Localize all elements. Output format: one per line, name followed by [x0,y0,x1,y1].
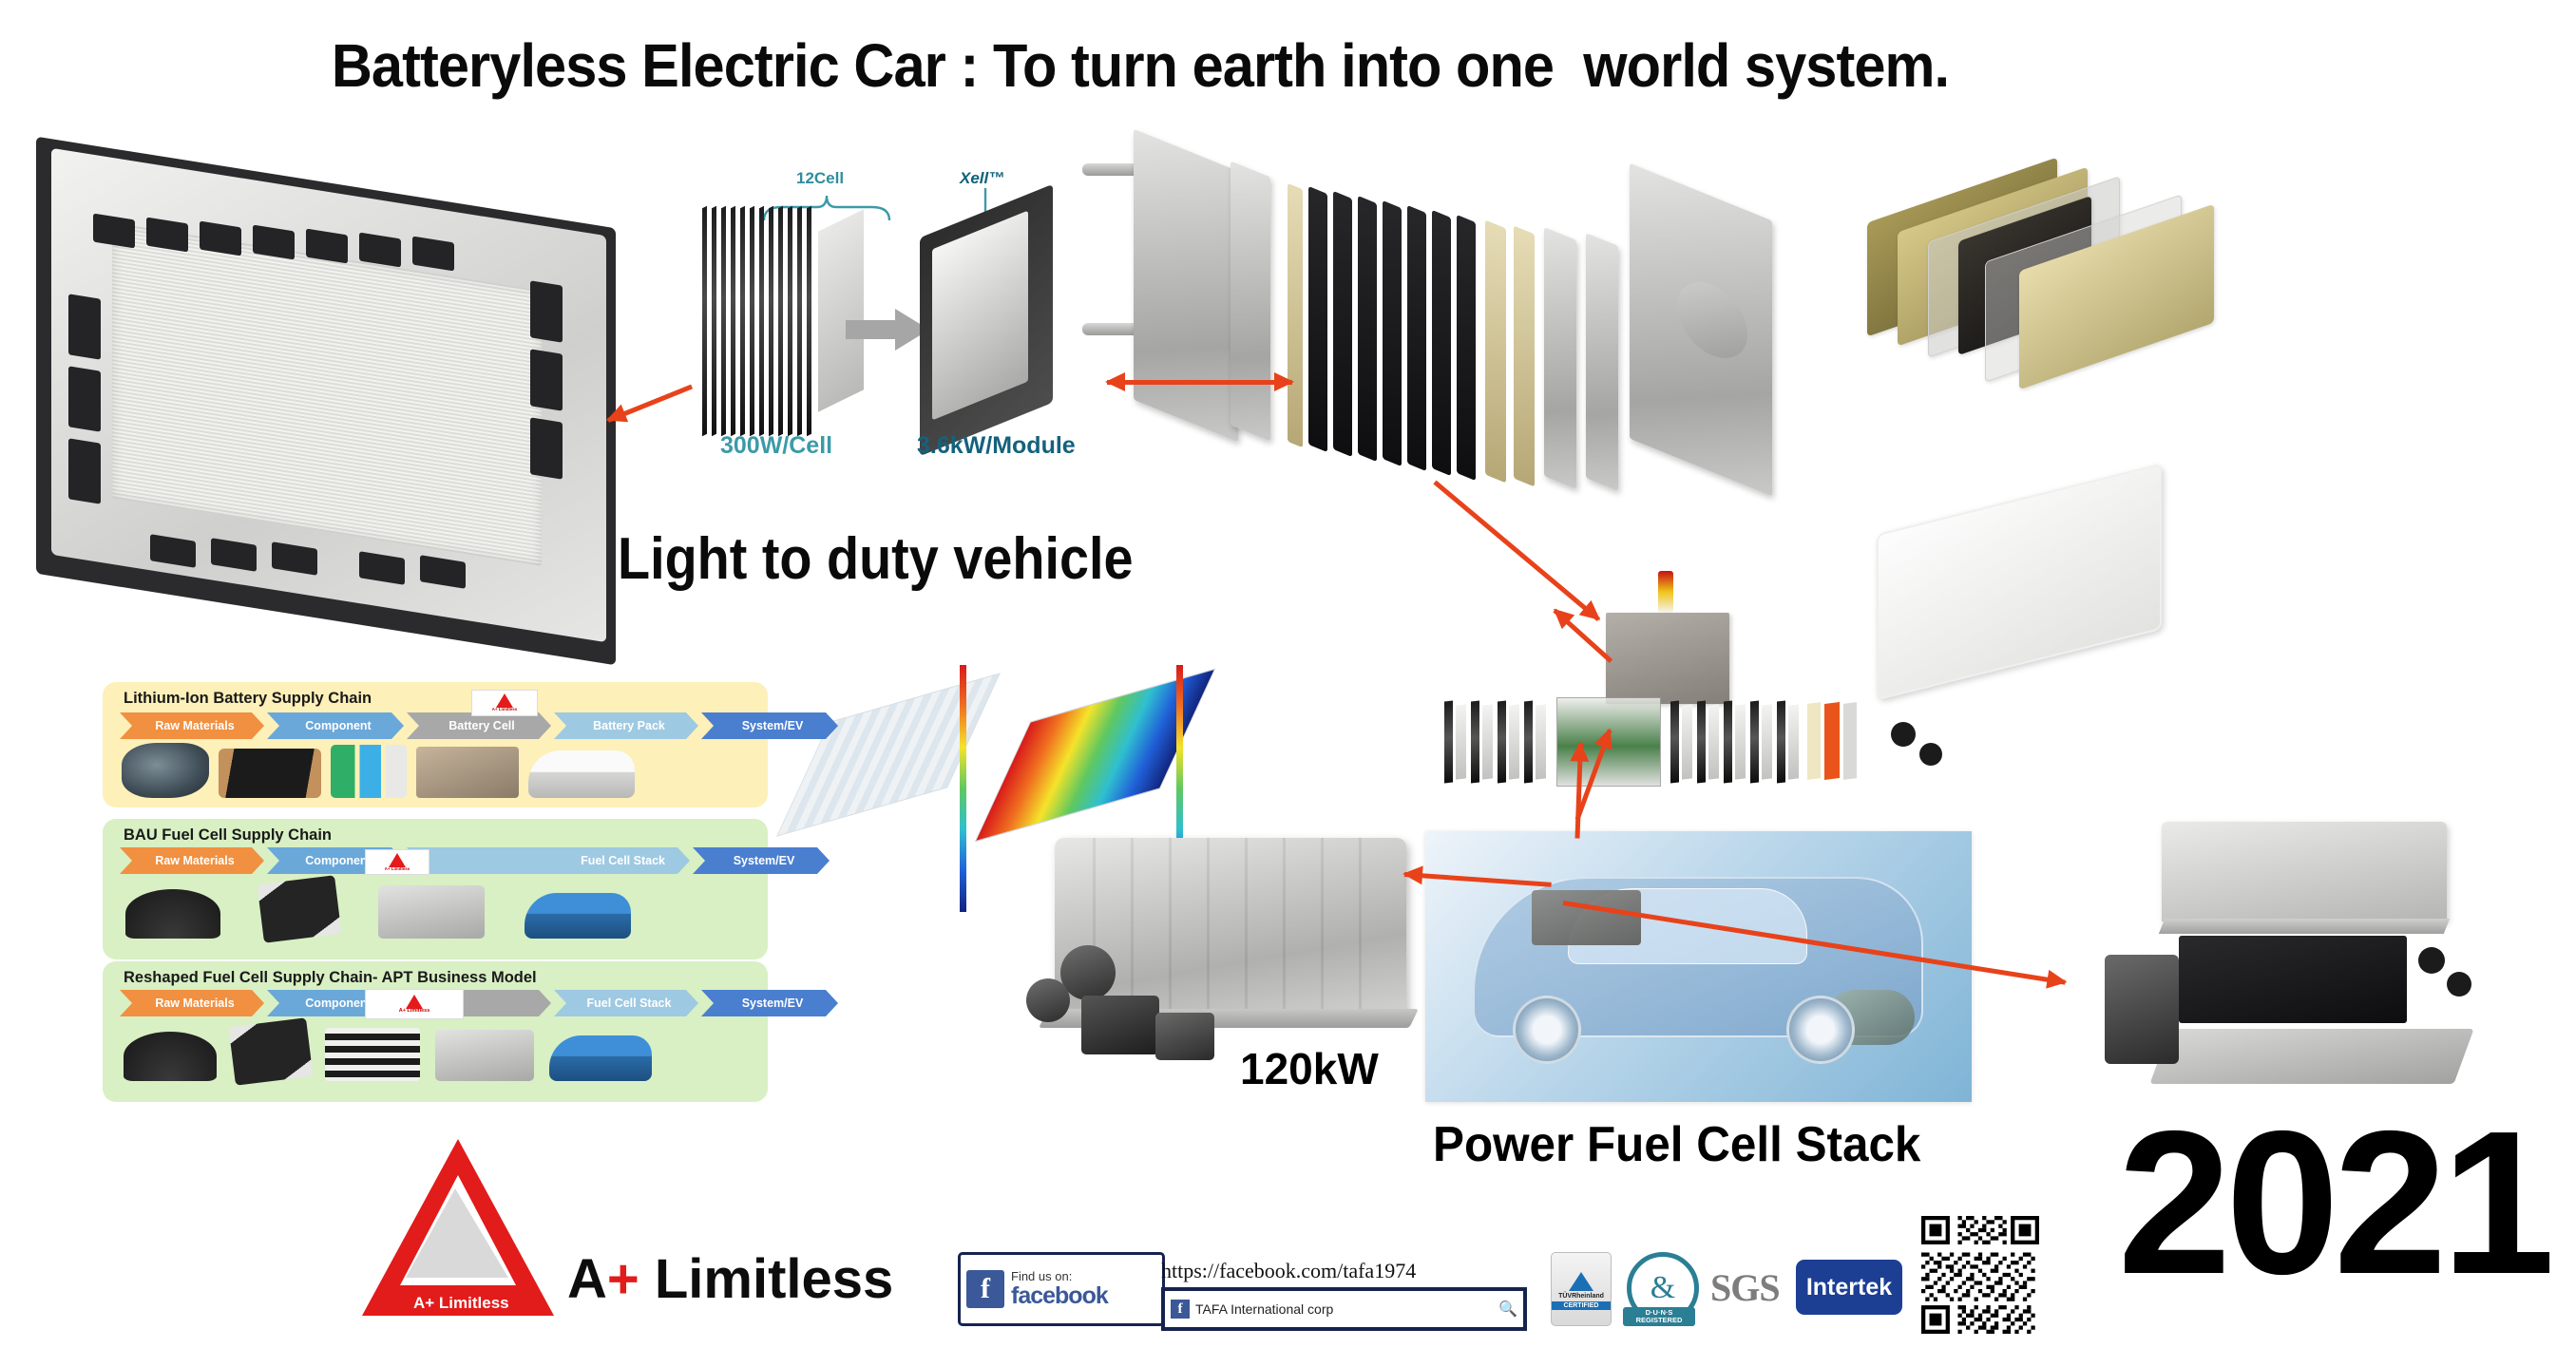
thumb-battery-cells [331,745,407,798]
thumb-blue-sedan [525,893,631,939]
chain-step-label: System/EV [734,854,795,867]
aplus-limitless-logo-icon: A+ Limitless [356,1135,561,1320]
aplus-badge-text: A+ Limitless [492,708,518,712]
bipolar-plate-render [36,182,616,619]
chain-step-label: Component [305,854,371,867]
mini-stack-module-render [1606,613,1729,704]
cert-intertek: Intertek [1796,1260,1902,1315]
thumb-stacked-plates [325,1028,420,1081]
conversion-arrow-icon [846,309,931,351]
chain-step-label: System/EV [742,997,804,1010]
chain-step-raw-materials[interactable]: Raw Materials [120,847,264,874]
exploded-plate-row-render [1444,693,2000,807]
cert-line1: TÜVRheinland [1558,1293,1604,1300]
thumb-battery-pack [416,747,519,798]
brand-wordmark: A+ Limitless [567,1247,893,1311]
cells-label: 12Cell [796,169,844,188]
module-label: Xell™ [960,169,1004,188]
facebook-icon: f [966,1270,1004,1308]
thumb-ore-rock [122,743,209,798]
cell-stack-render [698,207,860,435]
page-title: Batteryless Electric Car : To turn earth… [80,30,2201,101]
chain-step-label: Raw Materials [155,997,234,1010]
power-fuel-cell-stack-title: Power Fuel Cell Stack [1433,1116,1920,1173]
facebook-badge[interactable]: f Find us on: facebook [958,1252,1165,1326]
module-power-label: 3.6kW/Module [917,432,1076,460]
supply-chain-reshaped-apt: Reshaped Fuel Cell Supply Chain- APT Bus… [103,961,768,1102]
wordmark-a: A [567,1248,607,1310]
ampersand-icon: & [1651,1270,1675,1306]
chain-step-fuel-cell-stack[interactable]: Fuel Cell Stack [407,847,690,874]
chain-step-label: Battery Cell [448,719,514,732]
cert-tuv-rheinland: TÜVRheinland CERTIFIED [1551,1252,1612,1326]
cert-line2: REGISTERED [1636,1316,1683,1324]
chain-step-system-ev[interactable]: System/EV [701,712,838,739]
chain-step-system-ev[interactable]: System/EV [701,990,838,1016]
tuv-triangle-icon [1569,1272,1593,1291]
chain-step-label: Fuel Cell Stack [581,854,665,867]
facebook-small-icon: f [1171,1300,1190,1319]
cert-sgs: SGS [1710,1265,1780,1310]
facebook-wordmark: facebook [1011,1283,1108,1308]
chain-step-component[interactable]: Component [267,712,404,739]
thumb-carbon-powder [124,1032,217,1081]
thumb-white-sedan [528,750,635,798]
power-120kw-label: 120kW [1240,1043,1379,1094]
thumb-fc-stack-module [378,885,485,939]
facebook-search-box[interactable]: f TAFA International corp 🔍 [1161,1287,1527,1331]
xell-module-render [920,211,1053,429]
aplus-badge-icon: A+ Limitless [471,690,538,716]
facebook-url[interactable]: https://facebook.com/tafa1974 [1161,1259,1416,1283]
thumb-carbon-powder [125,889,220,939]
aplus-badge-icon: A+ Limitless [365,849,429,875]
chain-step-fuel-cell-stack[interactable]: Fuel Cell Stack [554,990,698,1016]
flow-arrow-1 [607,385,693,423]
chain-step-raw-materials[interactable]: Raw Materials [120,990,264,1016]
aplus-badge-text: A+ Limitless [385,867,410,872]
thumb-blue-sedan [549,1035,652,1081]
qr-code-icon[interactable] [1921,1216,2039,1334]
cert-line2: CERTIFIED [1552,1301,1611,1310]
thumb-bipolar-plates [229,1017,314,1086]
chain-step-system-ev[interactable]: System/EV [693,847,830,874]
cell-power-label: 300W/Cell [720,432,832,460]
flow-arrow-2 [1107,380,1292,385]
supply-chain-lithium-ion: Lithium-Ion Battery Supply Chain Raw Mat… [103,682,768,807]
chain-step-label: Component [305,997,371,1010]
magnifier-icon[interactable]: 🔍 [1498,1300,1517,1319]
chain-step-battery-cell[interactable]: Battery Cell [407,712,551,739]
chain-step-label: Battery Pack [593,719,665,732]
wordmark-plus: + [607,1248,639,1310]
chain-title: Lithium-Ion Battery Supply Chain [124,689,372,708]
aplus-badge-text: A+ Limitless [399,1009,430,1015]
white-plate-render [1877,499,2162,665]
chain-step-label: System/EV [742,719,804,732]
fuel-cell-system-exploded-render [2105,812,2523,1097]
brand-logo-block: A+ Limitless A+ Limitless [356,1135,926,1335]
chain-step-label: Fuel Cell Stack [587,997,672,1010]
subtitle-light-duty-vehicle: Light to duty vehicle [618,525,1134,593]
fcev-car-cutaway [1425,831,1972,1102]
chain-step-battery-pack[interactable]: Battery Pack [554,712,698,739]
thumb-bipolar-plates [258,875,342,943]
mea-layers-render [1867,180,2238,404]
chain-step-label: Raw Materials [155,719,234,732]
chain-title: BAU Fuel Cell Supply Chain [124,826,332,845]
exploded-stack-render [1097,142,1805,608]
facebook-find-label: Find us on: [1011,1270,1108,1283]
chain-step-label: Raw Materials [155,854,234,867]
thumb-electrode-foil [219,749,321,798]
cert-duns-registered: & D·U·N·SREGISTERED [1623,1252,1695,1324]
colorbar-1 [960,665,966,912]
simulation-temperature-plot [1002,703,1188,807]
chain-step-raw-materials[interactable]: Raw Materials [120,712,264,739]
supply-chain-bau-fuel-cell: BAU Fuel Cell Supply Chain Raw Materials… [103,819,768,959]
thumb-fc-stack-module [435,1030,534,1081]
aplus-badge-icon: A+ Limitless [365,989,464,1019]
logo-inner-text: A+ Limitless [413,1294,509,1312]
search-input-value[interactable]: TAFA International corp [1195,1301,1493,1317]
wordmark-rest: Limitless [639,1248,894,1310]
chain-step-label: Component [305,719,371,732]
year-label: 2021 [2118,1123,2549,1282]
chain-title: Reshaped Fuel Cell Supply Chain- APT Bus… [124,968,537,987]
